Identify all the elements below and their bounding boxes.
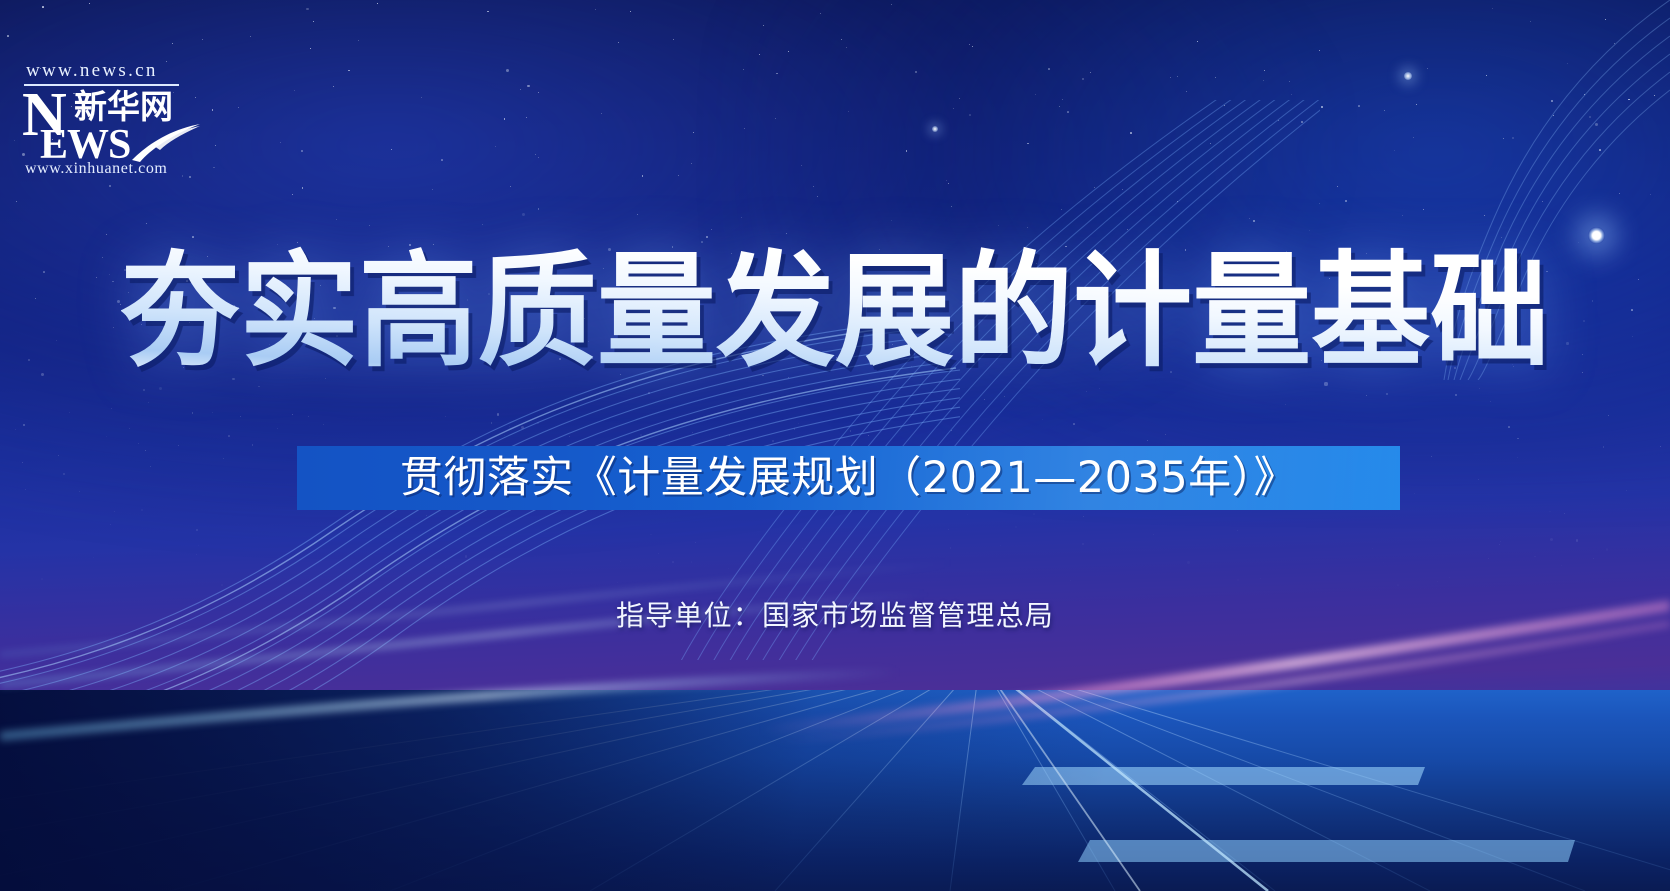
glow-star-icon	[1588, 227, 1605, 244]
poster-canvas: www.news.cn N 新华网 EWS www.xinhuanet.com …	[0, 0, 1670, 891]
page-title: 夯实高质量发展的计量基础	[33, 246, 1636, 378]
floor-shadow	[0, 690, 1670, 891]
small-star-icon	[1404, 72, 1412, 80]
organizer-line: 指导单位：国家市场监督管理总局	[0, 596, 1670, 636]
logo-url-top: www.news.cn	[22, 60, 187, 82]
logo-letter-ews: EWS	[40, 124, 130, 166]
subtitle-text: 贯彻落实《计量发展规划（2021—2035年）》	[297, 446, 1400, 510]
logo-mark: N 新华网 EWS	[22, 86, 187, 162]
swoosh-icon	[130, 122, 202, 162]
logo-brand-cn: 新华网	[74, 90, 173, 123]
page-title-text: 夯实高质量发展的计量基础	[121, 240, 1549, 384]
small-star-icon	[932, 126, 938, 132]
xinhua-logo[interactable]: www.news.cn N 新华网 EWS www.xinhuanet.com	[22, 60, 187, 188]
perspective-grid-icon	[0, 690, 1670, 891]
